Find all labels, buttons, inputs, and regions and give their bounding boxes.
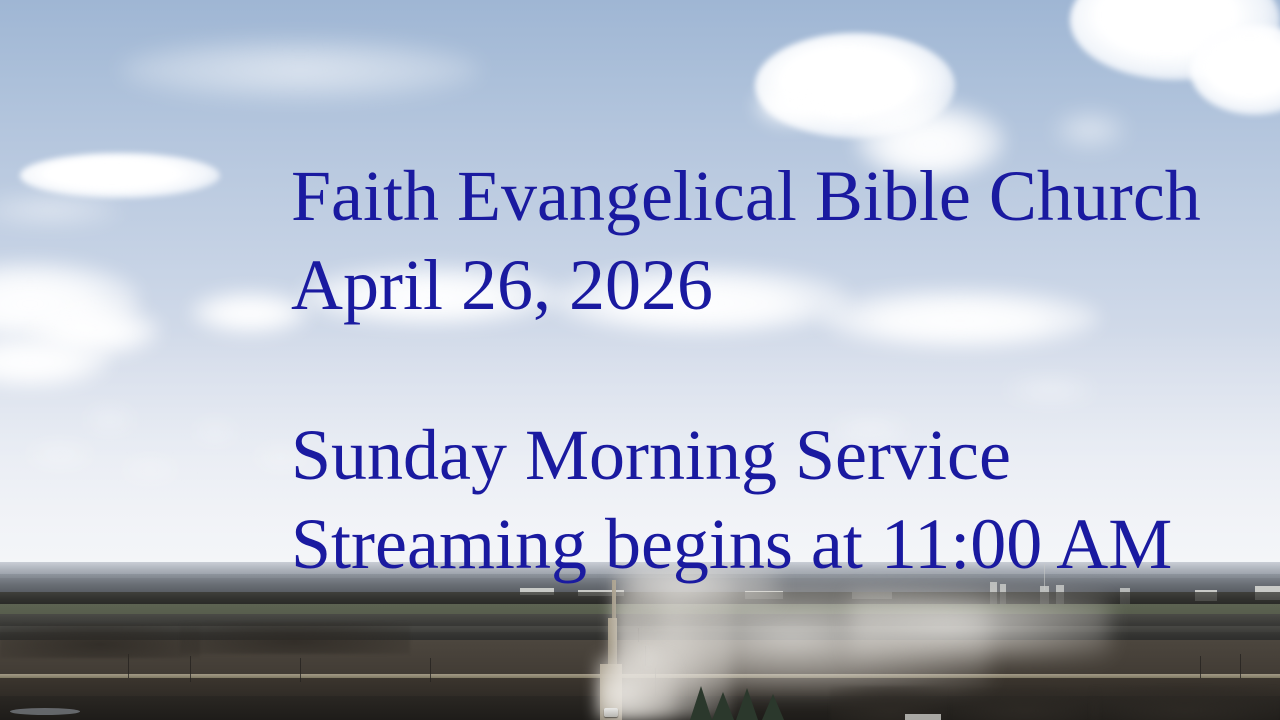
stream-time-line: Streaming begins at 11:00 AM xyxy=(291,500,1172,589)
title-card-stage: Faith Evangelical Bible Church April 26,… xyxy=(0,0,1280,720)
service-name-line: Sunday Morning Service xyxy=(291,411,1172,500)
service-date-line: April 26, 2026 xyxy=(291,241,1201,330)
text-overlay: Faith Evangelical Bible Church April 26,… xyxy=(0,0,1280,720)
service-info-block: Sunday Morning Service Streaming begins … xyxy=(291,411,1172,589)
church-title-block: Faith Evangelical Bible Church April 26,… xyxy=(291,152,1201,330)
church-name-line: Faith Evangelical Bible Church xyxy=(291,152,1201,241)
